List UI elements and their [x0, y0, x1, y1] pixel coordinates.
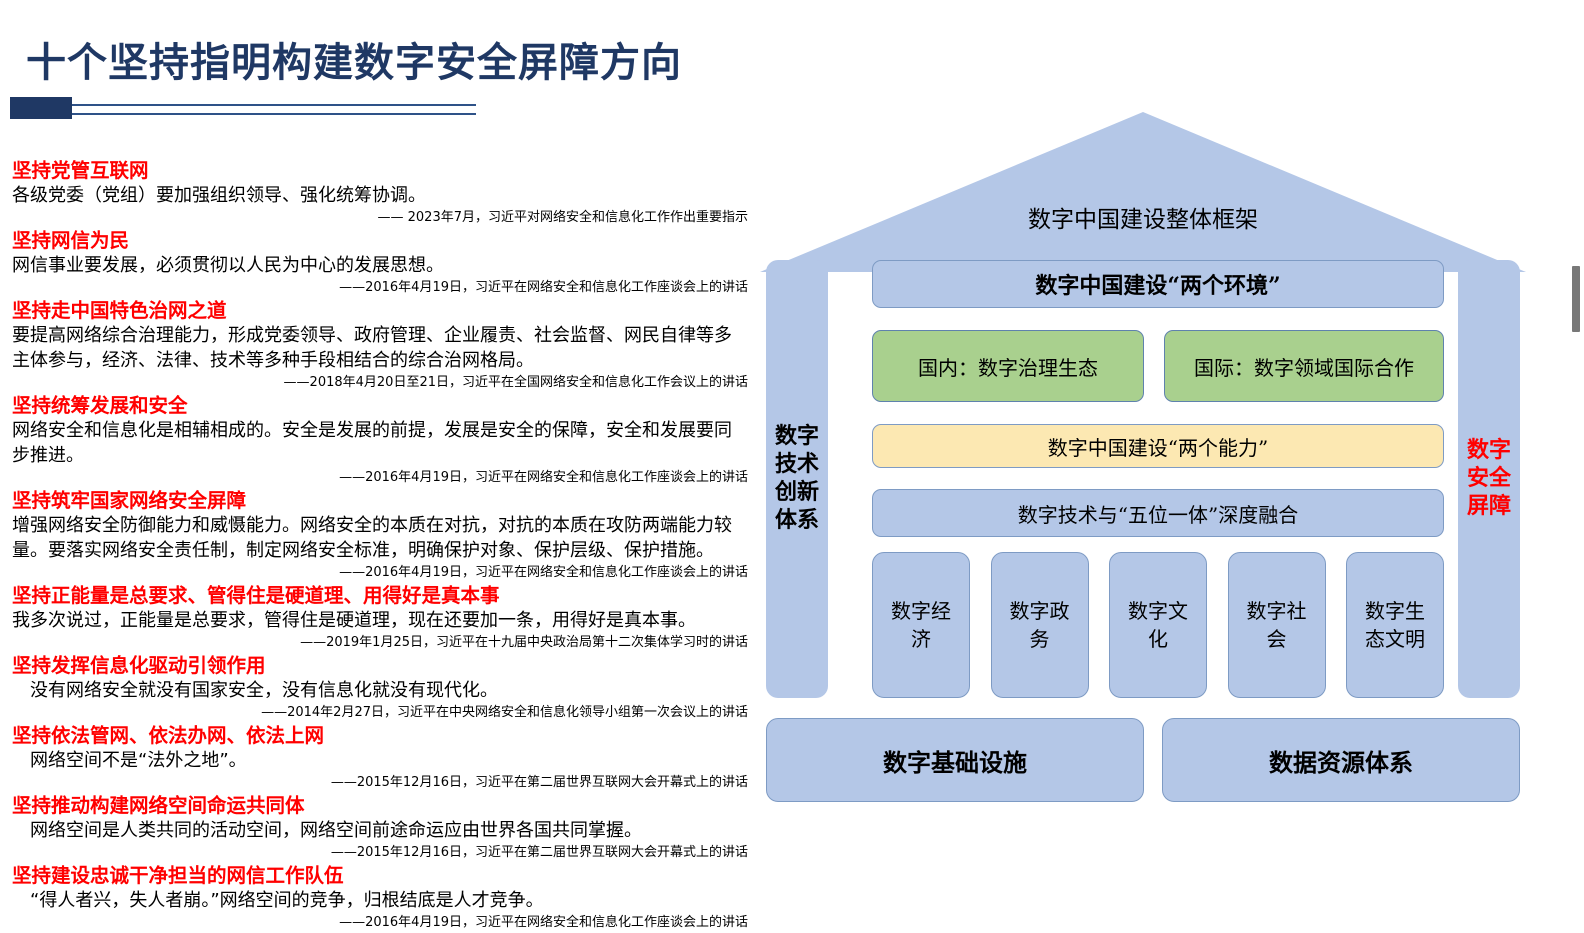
principle-body: 网络空间不是“法外之地”。 [12, 748, 748, 773]
principle-source: ——2015年12月16日，习近平在第二届世界互联网大会开幕式上的讲话 [12, 773, 748, 792]
page-title: 十个坚持指明构建数字安全屏障方向 [26, 30, 682, 88]
principle-heading: 坚持筑牢国家网络安全屏障 [12, 488, 748, 513]
principle-body: 各级党委（党组）要加强组织领导、强化统筹协调。 [12, 183, 748, 208]
principle-source: ——2018年4月20日至21日，习近平在全国网络安全和信息化工作会议上的讲话 [12, 373, 748, 392]
title-underline-rule [72, 104, 476, 115]
principle-body: 要提高网络综合治理能力，形成党委领导、政府管理、企业履责、社会监督、网民自律等多… [12, 323, 748, 373]
vertical-scrollbar[interactable] [1570, 0, 1584, 886]
box-five-in-one-fusion[interactable]: 数字技术与“五位一体”深度融合 [872, 489, 1444, 537]
domain-pillar-label: 数字经济 [885, 597, 957, 653]
principle-heading: 坚持发挥信息化驱动引领作用 [12, 653, 748, 678]
principle-body: 我多次说过，正能量是总要求，管得住是硬道理，现在还要加一条，用得好是真本事。 [12, 608, 748, 633]
principle-body: 没有网络安全就没有国家安全，没有信息化就没有现代化。 [12, 678, 748, 703]
principle-heading: 坚持统筹发展和安全 [12, 393, 748, 418]
digital-china-framework-diagram: 数字中国建设整体框架 数字技术创新体系 数字安全屏障 数字中国建设“两个环境” … [752, 112, 1534, 812]
box-domestic-governance[interactable]: 国内：数字治理生态 [872, 330, 1144, 402]
box-data-resource-system[interactable]: 数据资源体系 [1162, 718, 1520, 802]
domain-pillar-box[interactable]: 数字生态文明 [1346, 552, 1444, 698]
pillar-left-label: 数字技术创新体系 [773, 423, 821, 535]
principle-block: 坚持党管互联网各级党委（党组）要加强组织领导、强化统筹协调。—— 2023年7月… [12, 158, 748, 227]
principle-source: ——2016年4月19日，习近平在网络安全和信息化工作座谈会上的讲话 [12, 468, 748, 487]
principle-source: ——2014年2月27日，习近平在中央网络安全和信息化领导小组第一次会议上的讲话 [12, 703, 748, 722]
principle-block: 坚持筑牢国家网络安全屏障增强网络安全防御能力和威慑能力。网络安全的本质在对抗，对… [12, 488, 748, 582]
box-digital-infrastructure[interactable]: 数字基础设施 [766, 718, 1144, 802]
roof-label: 数字中国建设整体框架 [760, 200, 1526, 234]
principle-heading: 坚持建设忠诚干净担当的网信工作队伍 [12, 863, 748, 888]
box-two-capabilities[interactable]: 数字中国建设“两个能力” [872, 424, 1444, 468]
principle-block: 坚持正能量是总要求、管得住是硬道理、用得好是真本事我多次说过，正能量是总要求，管… [12, 583, 748, 652]
principle-source: ——2016年4月19日，习近平在网络安全和信息化工作座谈会上的讲话 [12, 278, 748, 297]
domain-pillar-box[interactable]: 数字文化 [1109, 552, 1207, 698]
principle-block: 坚持走中国特色治网之道要提高网络综合治理能力，形成党委领导、政府管理、企业履责、… [12, 298, 748, 392]
principle-heading: 坚持正能量是总要求、管得住是硬道理、用得好是真本事 [12, 583, 748, 608]
principle-body: 网信事业要发展，必须贯彻以人民为中心的发展思想。 [12, 253, 748, 278]
principle-body: “得人者兴，失人者崩。”网络空间的竞争，归根结底是人才竞争。 [12, 888, 748, 913]
five-domain-pillars: 数字经济数字政务数字文化数字社会数字生态文明 [872, 552, 1444, 698]
principle-block: 坚持建设忠诚干净担当的网信工作队伍“得人者兴，失人者崩。”网络空间的竞争，归根结… [12, 863, 748, 932]
principle-heading: 坚持走中国特色治网之道 [12, 298, 748, 323]
vertical-scroll-thumb[interactable] [1572, 266, 1580, 332]
principle-source: ——2019年1月25日，习近平在十九届中央政治局第十二次集体学习时的讲话 [12, 633, 748, 652]
principle-source: ——2016年4月19日，习近平在网络安全和信息化工作座谈会上的讲话 [12, 913, 748, 932]
roof-shape [760, 112, 1526, 272]
domain-pillar-box[interactable]: 数字社会 [1228, 552, 1326, 698]
domain-pillar-box[interactable]: 数字政务 [991, 552, 1089, 698]
domain-pillar-label: 数字社会 [1241, 597, 1313, 653]
principle-source: ——2016年4月19日，习近平在网络安全和信息化工作座谈会上的讲话 [12, 563, 748, 582]
principle-block: 坚持发挥信息化驱动引领作用没有网络安全就没有国家安全，没有信息化就没有现代化。—… [12, 653, 748, 722]
slide-canvas: 十个坚持指明构建数字安全屏障方向 坚持党管互联网各级党委（党组）要加强组织领导、… [0, 0, 1584, 886]
principle-block: 坚持推动构建网络空间命运共同体网络空间是人类共同的活动空间，网络空间前途命运应由… [12, 793, 748, 862]
principle-block: 坚持统筹发展和安全网络安全和信息化是相辅相成的。安全是发展的前提，发展是安全的保… [12, 393, 748, 487]
title-accent-block [10, 97, 72, 119]
principle-source: ——2015年12月16日，习近平在第二届世界互联网大会开幕式上的讲话 [12, 843, 748, 862]
principle-block: 坚持依法管网、依法办网、依法上网网络空间不是“法外之地”。——2015年12月1… [12, 723, 748, 792]
pillar-right-digital-security[interactable]: 数字安全屏障 [1458, 260, 1520, 698]
principle-heading: 坚持依法管网、依法办网、依法上网 [12, 723, 748, 748]
principle-block: 坚持网信为民网信事业要发展，必须贯彻以人民为中心的发展思想。——2016年4月1… [12, 228, 748, 297]
domain-pillar-label: 数字文化 [1122, 597, 1194, 653]
domain-pillar-label: 数字政务 [1004, 597, 1076, 653]
principle-source: —— 2023年7月，习近平对网络安全和信息化工作作出重要指示 [12, 208, 748, 227]
principle-heading: 坚持党管互联网 [12, 158, 748, 183]
principle-body: 网络安全和信息化是相辅相成的。安全是发展的前提，发展是安全的保障，安全和发展要同… [12, 418, 748, 468]
principle-body: 增强网络安全防御能力和威慑能力。网络安全的本质在对抗，对抗的本质在攻防两端能力较… [12, 513, 748, 563]
pillar-left-tech-innovation[interactable]: 数字技术创新体系 [766, 260, 828, 698]
principles-list: 坚持党管互联网各级党委（党组）要加强组织领导、强化统筹协调。—— 2023年7月… [12, 158, 748, 933]
principle-heading: 坚持推动构建网络空间命运共同体 [12, 793, 748, 818]
domain-pillar-box[interactable]: 数字经济 [872, 552, 970, 698]
domain-pillar-label: 数字生态文明 [1359, 597, 1431, 653]
principle-body: 网络空间是人类共同的活动空间，网络空间前途命运应由世界各国共同掌握。 [12, 818, 748, 843]
box-two-environments[interactable]: 数字中国建设“两个环境” [872, 260, 1444, 308]
box-international-cooperation[interactable]: 国际：数字领域国际合作 [1164, 330, 1444, 402]
principle-heading: 坚持网信为民 [12, 228, 748, 253]
pillar-right-label: 数字安全屏障 [1465, 437, 1513, 521]
